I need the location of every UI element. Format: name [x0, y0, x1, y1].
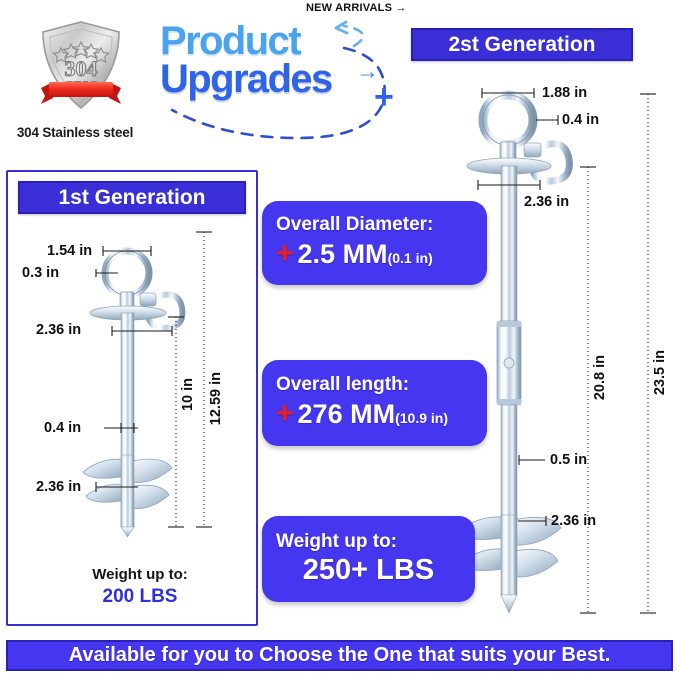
gen1-dim-shaft-length: 10 in	[180, 378, 196, 411]
gen2-dim-plate-diameter: 2.36 in	[524, 194, 569, 210]
gen2-title-chip: 2st Generation	[411, 28, 633, 61]
gen1-dim-total-length: 12.59 in	[208, 372, 224, 425]
gen1-dim-auger-diameter: 2.36 in	[36, 479, 81, 495]
gen1-dim-ring-width: 1.54 in	[47, 243, 92, 259]
callout-length-sub: (10.9 in)	[395, 410, 448, 426]
gen1-weight-block: Weight up to: 200 LBS	[60, 566, 220, 608]
gen1-weight-value: 200 LBS	[60, 586, 220, 608]
gen1-title-chip: 1st Generation	[18, 181, 246, 214]
callout-diameter-sub: (0.1 in)	[388, 250, 433, 266]
gen1-dim-shaft-diameter: 0.4 in	[44, 420, 81, 436]
logo-line-1: Product	[160, 22, 400, 60]
callout-weight-value: 250+ LBS	[276, 554, 461, 587]
infographic-canvas: 304 SUS 304 Stainless steel Product Upgr…	[0, 0, 679, 678]
gen1-dim-ring-thickness: 0.3 in	[22, 265, 59, 281]
gen1-dim-plate-diameter: 2.36 in	[36, 322, 81, 338]
gen2-dim-shaft-diameter: 0.5 in	[550, 452, 587, 468]
gen2-dim-total-length: 23.5 in	[652, 350, 668, 395]
callout-diameter-label: Overall Diameter:	[276, 214, 473, 236]
gen2-dim-ring-width: 1.88 in	[542, 85, 587, 101]
logo-plus-icon: +	[374, 78, 394, 117]
gen2-dim-auger-diameter: 2.36 in	[551, 513, 596, 529]
callout-diameter-value: +2.5 MM(0.1 in)	[276, 237, 473, 272]
gen2-dimension-lines	[478, 88, 656, 613]
gen2-dim-shaft-length: 20.8 in	[592, 355, 608, 400]
badge-caption: 304 Stainless steel	[10, 125, 140, 140]
gen2-dim-ring-thickness: 0.4 in	[562, 112, 599, 128]
bottom-banner: Available for you to Choose the One that…	[6, 640, 673, 671]
callout-weight-capacity: Weight up to: 250+ LBS	[262, 516, 475, 602]
callout-overall-diameter: Overall Diameter: +2.5 MM(0.1 in)	[262, 201, 487, 285]
plus-icon: +	[276, 237, 294, 270]
plus-icon: +	[276, 397, 294, 430]
callout-length-number: 276 MM	[298, 399, 396, 429]
stainless-steel-badge: 304 SUS 304 Stainless steel	[22, 18, 140, 140]
new-arrivals-label: NEW ARRIVALS →	[306, 2, 407, 14]
product-upgrades-logo: Product Upgrades → +	[160, 22, 400, 130]
callout-weight-label: Weight up to:	[276, 531, 461, 553]
shield-icon: 304 SUS	[35, 18, 127, 122]
callout-length-label: Overall length:	[276, 374, 473, 396]
callout-length-value: +276 MM(10.9 in)	[276, 397, 473, 432]
callout-diameter-number: 2.5 MM	[298, 239, 388, 269]
callout-overall-length: Overall length: +276 MM(10.9 in)	[262, 360, 487, 446]
gen1-weight-label: Weight up to:	[60, 566, 220, 583]
